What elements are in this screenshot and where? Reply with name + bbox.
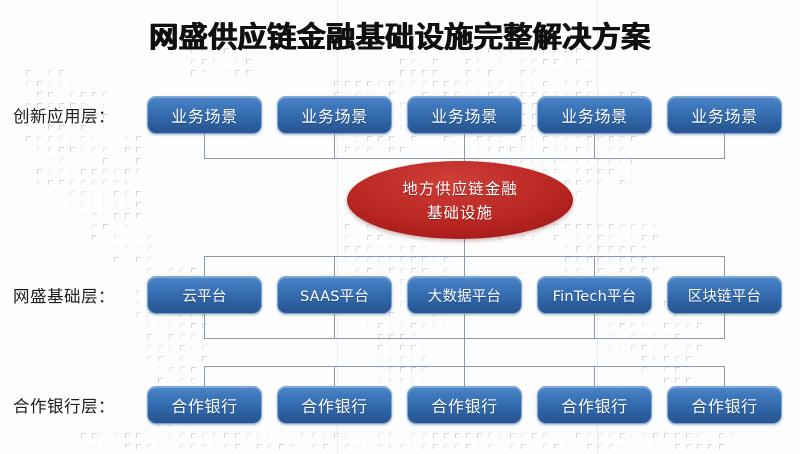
map-texture-dot — [411, 136, 416, 141]
map-texture-dot — [136, 147, 141, 152]
layer-label-foundation: 网盛基础层： — [13, 283, 115, 307]
map-texture-dot — [598, 235, 603, 240]
map-texture-dot — [59, 70, 64, 75]
map-texture-dot — [81, 433, 86, 438]
map-texture-dot — [609, 136, 614, 141]
map-texture-dot — [125, 246, 130, 251]
map-texture-dot — [400, 268, 405, 273]
map-texture-dot — [169, 356, 174, 361]
map-texture-dot — [345, 257, 350, 262]
node-bank-2[interactable]: 合作银行 — [277, 386, 392, 424]
map-texture-dot — [730, 433, 735, 438]
map-texture-dot — [48, 158, 53, 163]
map-texture-dot — [477, 136, 482, 141]
map-texture-dot — [543, 433, 548, 438]
map-texture-dot — [202, 356, 207, 361]
map-texture-dot — [598, 444, 603, 449]
map-texture-dot — [378, 81, 383, 86]
map-texture-dot — [92, 92, 97, 97]
map-texture-dot — [422, 81, 427, 86]
map-texture-dot — [411, 81, 416, 86]
map-texture-dot — [147, 356, 152, 361]
map-texture-dot — [433, 257, 438, 262]
map-texture-dot — [411, 433, 416, 438]
node-platform-bigdata[interactable]: 大数据平台 — [407, 276, 522, 314]
map-texture-dot — [169, 345, 174, 350]
map-texture-dot — [114, 246, 119, 251]
map-texture-dot — [59, 81, 64, 86]
map-texture-dot — [158, 345, 163, 350]
map-texture-dot — [81, 136, 86, 141]
map-texture-dot — [642, 224, 647, 229]
map-texture-dot — [598, 136, 603, 141]
map-texture-dot — [631, 246, 636, 251]
map-texture-dot — [609, 257, 614, 262]
map-texture-dot — [81, 191, 86, 196]
map-texture-dot — [378, 444, 383, 449]
connector-rise-bank-5 — [724, 366, 725, 387]
map-texture-dot — [400, 114, 405, 119]
map-texture-dot — [686, 356, 691, 361]
map-texture-dot — [642, 246, 647, 251]
map-texture-dot — [422, 70, 427, 75]
map-texture-dot — [367, 147, 372, 152]
map-texture-dot — [37, 180, 42, 185]
map-texture-dot — [367, 235, 372, 240]
map-texture-dot — [587, 235, 592, 240]
map-texture-dot — [147, 257, 152, 262]
node-bank-1[interactable]: 合作银行 — [147, 386, 262, 424]
map-texture-dot — [48, 81, 53, 86]
map-texture-dot — [653, 224, 658, 229]
map-texture-dot — [312, 444, 317, 449]
map-texture-dot — [455, 444, 460, 449]
map-texture-dot — [400, 356, 405, 361]
connector-drop-platform-5 — [724, 314, 725, 338]
map-texture-dot — [598, 268, 603, 273]
map-texture-dot — [620, 257, 625, 262]
map-texture-dot — [125, 180, 130, 185]
map-texture-dot — [653, 345, 658, 350]
map-texture-dot — [521, 59, 526, 64]
map-texture-dot — [444, 433, 449, 438]
map-texture-dot — [675, 433, 680, 438]
map-texture-dot — [686, 323, 691, 328]
map-texture-dot — [576, 235, 581, 240]
map-texture-dot — [642, 444, 647, 449]
connector-rise-bank-3 — [464, 366, 465, 387]
map-texture-dot — [169, 367, 174, 372]
node-platform-fintech[interactable]: FinTech平台 — [537, 276, 652, 314]
map-texture-dot — [697, 323, 702, 328]
map-texture-dot — [609, 268, 614, 273]
map-texture-dot — [103, 202, 108, 207]
map-texture-dot — [620, 433, 625, 438]
map-texture-dot — [609, 246, 614, 251]
map-texture-dot — [400, 246, 405, 251]
map-texture-dot — [378, 356, 383, 361]
map-texture-dot — [499, 433, 504, 438]
map-texture-dot — [26, 136, 31, 141]
map-texture-dot — [609, 169, 614, 174]
map-texture-dot — [345, 213, 350, 218]
map-texture-dot — [202, 345, 207, 350]
node-platform-cloud[interactable]: 云平台 — [147, 276, 262, 314]
map-texture-dot — [642, 356, 647, 361]
map-texture-dot — [213, 444, 218, 449]
map-texture-dot — [400, 70, 405, 75]
map-texture-dot — [554, 70, 559, 75]
map-texture-dot — [642, 257, 647, 262]
map-texture-dot — [488, 444, 493, 449]
map-texture-dot — [400, 59, 405, 64]
map-texture-dot — [521, 235, 526, 240]
map-texture-dot — [642, 268, 647, 273]
map-texture-dot — [554, 235, 559, 240]
connector-spine-bank — [464, 338, 465, 366]
node-scenario-4[interactable]: 业务场景 — [537, 96, 652, 134]
map-texture-dot — [235, 433, 240, 438]
map-texture-dot — [114, 169, 119, 174]
map-texture-dot — [653, 301, 658, 306]
map-texture-dot — [422, 444, 427, 449]
map-texture-dot — [191, 345, 196, 350]
map-texture-dot — [620, 180, 625, 185]
map-texture-dot — [70, 180, 75, 185]
map-texture-dot — [246, 433, 251, 438]
map-texture-dot — [642, 345, 647, 350]
connector-rise-bank-4 — [594, 366, 595, 387]
map-texture-dot — [653, 444, 658, 449]
map-texture-dot — [653, 268, 658, 273]
map-texture-dot — [389, 268, 394, 273]
map-texture-dot — [620, 268, 625, 273]
map-texture-dot — [389, 147, 394, 152]
node-scenario-1[interactable]: 业务场景 — [147, 96, 262, 134]
map-texture-dot — [180, 367, 185, 372]
map-texture-dot — [400, 378, 405, 383]
map-texture-dot — [169, 433, 174, 438]
map-texture-dot — [367, 246, 372, 251]
node-platform-saas[interactable]: SAAS平台 — [277, 276, 392, 314]
map-texture-dot — [70, 136, 75, 141]
map-texture-dot — [444, 257, 449, 262]
map-texture-dot — [488, 81, 493, 86]
map-texture-dot — [631, 345, 636, 350]
map-texture-dot — [609, 235, 614, 240]
map-texture-dot — [631, 136, 636, 141]
map-texture-dot — [213, 59, 218, 64]
map-texture-dot — [81, 147, 86, 152]
map-texture-dot — [81, 202, 86, 207]
map-texture-dot — [169, 323, 174, 328]
node-bank-5[interactable]: 合作银行 — [667, 386, 782, 424]
map-texture-dot — [367, 323, 372, 328]
map-texture-dot — [576, 433, 581, 438]
map-texture-dot — [400, 279, 405, 284]
map-texture-dot — [224, 433, 229, 438]
map-texture-dot — [26, 70, 31, 75]
map-texture-dot — [631, 180, 636, 185]
map-texture-dot — [521, 433, 526, 438]
map-texture-dot — [257, 444, 262, 449]
map-texture-dot — [587, 444, 592, 449]
map-texture-dot — [345, 268, 350, 273]
hub-title-line-2: 基础设施 — [427, 201, 493, 223]
map-texture-dot — [125, 444, 130, 449]
map-texture-dot — [389, 367, 394, 372]
map-texture-dot — [686, 345, 691, 350]
map-texture-dot — [37, 158, 42, 163]
map-texture-dot — [378, 246, 383, 251]
map-texture-dot — [675, 356, 680, 361]
map-texture-dot — [136, 191, 141, 196]
map-texture-dot — [356, 257, 361, 262]
page-title: 网盛供应链金融基础设施完整解决方案 — [0, 14, 800, 56]
map-texture-dot — [136, 202, 141, 207]
map-texture-dot — [642, 323, 647, 328]
map-texture-dot — [411, 323, 416, 328]
map-texture-dot — [477, 433, 482, 438]
map-texture-dot — [422, 268, 427, 273]
map-texture-dot — [37, 70, 42, 75]
map-texture-dot — [136, 213, 141, 218]
map-texture-dot — [312, 433, 317, 438]
map-texture-dot — [59, 169, 64, 174]
map-texture-dot — [191, 444, 196, 449]
map-texture-dot — [598, 257, 603, 262]
map-texture-dot — [235, 59, 240, 64]
map-texture-dot — [169, 334, 174, 339]
map-texture-dot — [620, 147, 625, 152]
map-texture-dot — [686, 433, 691, 438]
map-texture-dot — [543, 59, 548, 64]
map-texture-dot — [664, 367, 669, 372]
map-texture-dot — [400, 125, 405, 130]
map-texture-dot — [576, 147, 581, 152]
map-texture-dot — [378, 378, 383, 383]
map-texture-dot — [268, 433, 273, 438]
map-texture-dot — [400, 367, 405, 372]
map-texture-dot — [389, 444, 394, 449]
map-texture-dot — [37, 92, 42, 97]
map-texture-dot — [521, 444, 526, 449]
map-texture-dot — [587, 70, 592, 75]
map-texture-dot — [675, 444, 680, 449]
map-texture-dot — [257, 433, 262, 438]
map-texture-dot — [433, 70, 438, 75]
map-texture-dot — [400, 444, 405, 449]
map-texture-dot — [510, 444, 515, 449]
map-texture-dot — [565, 224, 570, 229]
map-texture-dot — [103, 191, 108, 196]
map-texture-dot — [609, 323, 614, 328]
map-texture-dot — [103, 92, 108, 97]
map-texture-dot — [466, 70, 471, 75]
map-texture-dot — [422, 367, 427, 372]
map-texture-dot — [345, 81, 350, 86]
map-texture-dot — [389, 235, 394, 240]
map-texture-dot — [631, 268, 636, 273]
map-texture-dot — [147, 323, 152, 328]
map-texture-dot — [587, 169, 592, 174]
map-texture-dot — [37, 147, 42, 152]
map-texture-dot — [378, 345, 383, 350]
map-texture-dot — [477, 70, 482, 75]
map-texture-dot — [114, 213, 119, 218]
map-texture-dot — [576, 136, 581, 141]
map-texture-dot — [136, 312, 141, 317]
map-texture-dot — [422, 378, 427, 383]
map-texture-dot — [543, 444, 548, 449]
map-texture-dot — [510, 433, 515, 438]
map-texture-dot — [576, 81, 581, 86]
map-texture-dot — [422, 433, 427, 438]
map-texture-dot — [125, 147, 130, 152]
map-texture-dot — [180, 334, 185, 339]
map-texture-dot — [378, 257, 383, 262]
map-texture-dot — [37, 136, 42, 141]
connector-drop-platform-4 — [594, 314, 595, 338]
map-texture-dot — [81, 92, 86, 97]
node-scenario-3[interactable]: 业务场景 — [407, 96, 522, 134]
map-texture-dot — [620, 444, 625, 449]
map-texture-dot — [477, 59, 482, 64]
map-texture-dot — [70, 158, 75, 163]
map-texture-dot — [653, 433, 658, 438]
map-texture-dot — [180, 378, 185, 383]
map-texture-dot — [609, 180, 614, 185]
map-texture-dot — [59, 158, 64, 163]
map-texture-dot — [70, 81, 75, 86]
map-texture-dot — [81, 169, 86, 174]
map-texture-dot — [202, 433, 207, 438]
map-texture-dot — [356, 81, 361, 86]
map-texture-dot — [664, 433, 669, 438]
map-texture-dot — [389, 257, 394, 262]
map-texture-dot — [620, 136, 625, 141]
map-texture-dot — [26, 81, 31, 86]
node-scenario-2[interactable]: 业务场景 — [277, 96, 392, 134]
connector-drop-platform-2 — [334, 314, 335, 338]
map-texture-dot — [466, 59, 471, 64]
map-texture-dot — [70, 202, 75, 207]
map-texture-dot — [422, 257, 427, 262]
map-texture-dot — [433, 81, 438, 86]
map-texture-dot — [631, 257, 636, 262]
node-scenario-5[interactable]: 业务场景 — [667, 96, 782, 134]
map-texture-dot — [411, 246, 416, 251]
map-texture-dot — [499, 136, 504, 141]
map-texture-dot — [169, 268, 174, 273]
map-texture-dot — [697, 345, 702, 350]
map-texture-dot — [48, 169, 53, 174]
map-texture-dot — [103, 213, 108, 218]
map-texture-dot — [587, 136, 592, 141]
connector-rise-bank-1 — [204, 366, 205, 387]
map-texture-dot — [103, 147, 108, 152]
map-texture-dot — [565, 257, 570, 262]
map-texture-dot — [664, 345, 669, 350]
map-texture-dot — [532, 147, 537, 152]
map-texture-dot — [620, 224, 625, 229]
map-texture-dot — [235, 444, 240, 449]
map-texture-dot — [125, 433, 130, 438]
map-texture-dot — [92, 147, 97, 152]
map-texture-dot — [598, 433, 603, 438]
map-texture-dot — [136, 136, 141, 141]
map-texture-dot — [125, 202, 130, 207]
map-texture-dot — [488, 136, 493, 141]
map-texture-dot — [345, 433, 350, 438]
map-texture-dot — [609, 345, 614, 350]
map-texture-dot — [92, 235, 97, 240]
map-texture-dot — [136, 290, 141, 295]
map-texture-dot — [136, 158, 141, 163]
map-texture-dot — [81, 444, 86, 449]
map-texture-dot — [180, 345, 185, 350]
map-texture-dot — [565, 180, 570, 185]
map-texture-dot — [411, 345, 416, 350]
map-texture-dot — [191, 334, 196, 339]
node-platform-blockchain[interactable]: 区块链平台 — [667, 276, 782, 314]
connector-drop-scenario-1 — [204, 134, 205, 158]
map-texture-dot — [378, 136, 383, 141]
map-texture-dot — [103, 444, 108, 449]
map-texture-dot — [576, 191, 581, 196]
map-texture-dot — [554, 147, 559, 152]
map-texture-dot — [466, 147, 471, 152]
map-texture-dot — [587, 224, 592, 229]
map-texture-dot — [367, 224, 372, 229]
map-texture-dot — [532, 70, 537, 75]
map-texture-dot — [323, 433, 328, 438]
map-texture-dot — [466, 444, 471, 449]
map-texture-dot — [565, 81, 570, 86]
map-texture-dot — [642, 235, 647, 240]
map-texture-dot — [411, 378, 416, 383]
hub-title-line-1: 地方供应链金融 — [402, 177, 518, 199]
map-texture-dot — [92, 169, 97, 174]
map-texture-dot — [477, 444, 482, 449]
map-texture-dot — [180, 323, 185, 328]
map-texture-dot — [180, 433, 185, 438]
map-texture-dot — [422, 246, 427, 251]
map-texture-dot — [433, 444, 438, 449]
map-texture-dot — [37, 169, 42, 174]
map-texture-dot — [631, 433, 636, 438]
node-bank-3[interactable]: 合作银行 — [407, 386, 522, 424]
map-texture-dot — [521, 70, 526, 75]
map-texture-dot — [411, 356, 416, 361]
map-texture-dot — [81, 213, 86, 218]
map-texture-dot — [48, 180, 53, 185]
map-texture-dot — [554, 59, 559, 64]
map-texture-dot — [631, 169, 636, 174]
map-texture-dot — [653, 356, 658, 361]
map-texture-dot — [224, 70, 229, 75]
map-texture-dot — [136, 246, 141, 251]
node-bank-4[interactable]: 合作银行 — [537, 386, 652, 424]
connector-rise-platform-1 — [204, 256, 205, 277]
map-texture-dot — [433, 323, 438, 328]
map-texture-dot — [356, 147, 361, 152]
map-texture-dot — [620, 345, 625, 350]
map-texture-dot — [191, 268, 196, 273]
map-texture-dot — [455, 433, 460, 438]
map-texture-dot — [400, 301, 405, 306]
map-texture-dot — [147, 246, 152, 251]
